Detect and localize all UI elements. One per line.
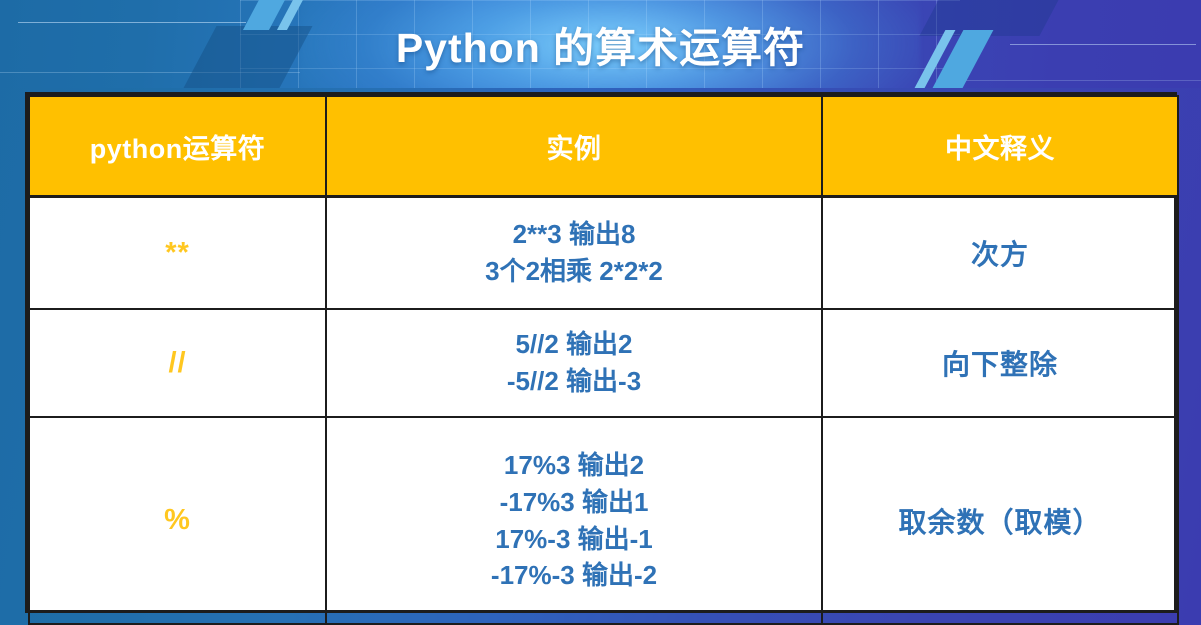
example-line: -17%3 输出1	[327, 484, 821, 521]
example-line: 3个2相乘 2*2*2	[327, 253, 821, 290]
operator-cell: //	[29, 309, 326, 417]
arithmetic-operator-table: python运算符 实例 中文释义 ** 2**3 输出8 3个2相乘 2*2*…	[25, 92, 1177, 613]
example-line: -5//2 输出-3	[327, 363, 821, 400]
table-header-row: python运算符 实例 中文释义	[29, 96, 1178, 197]
column-header-example: 实例	[326, 96, 822, 197]
meaning-cell: 向下整除	[822, 309, 1178, 417]
example-line: 17%-3 输出-1	[327, 521, 821, 558]
example-line: 17%3 输出2	[327, 447, 821, 484]
example-line: 5//2 输出2	[327, 326, 821, 363]
meaning-cell: 次方	[822, 197, 1178, 310]
table-row: // 5//2 输出2 -5//2 输出-3 向下整除	[29, 309, 1178, 417]
page-title: Python 的算术运算符	[0, 0, 1201, 88]
operator-cell: %	[29, 417, 326, 624]
table-row: % 17%3 输出2 -17%3 输出1 17%-3 输出-1 -17%-3 输…	[29, 417, 1178, 624]
operator-cell: **	[29, 197, 326, 310]
header-banner: Python 的算术运算符	[0, 0, 1201, 88]
meaning-cell: 取余数（取模）	[822, 417, 1178, 624]
column-header-meaning: 中文释义	[822, 96, 1178, 197]
example-cell: 5//2 输出2 -5//2 输出-3	[326, 309, 822, 417]
example-cell: 17%3 输出2 -17%3 输出1 17%-3 输出-1 -17%-3 输出-…	[326, 417, 822, 624]
example-cell: 2**3 输出8 3个2相乘 2*2*2	[326, 197, 822, 310]
table-row: ** 2**3 输出8 3个2相乘 2*2*2 次方	[29, 197, 1178, 310]
example-line: -17%-3 输出-2	[327, 557, 821, 594]
example-line: 2**3 输出8	[327, 216, 821, 253]
column-header-operator: python运算符	[29, 96, 326, 197]
